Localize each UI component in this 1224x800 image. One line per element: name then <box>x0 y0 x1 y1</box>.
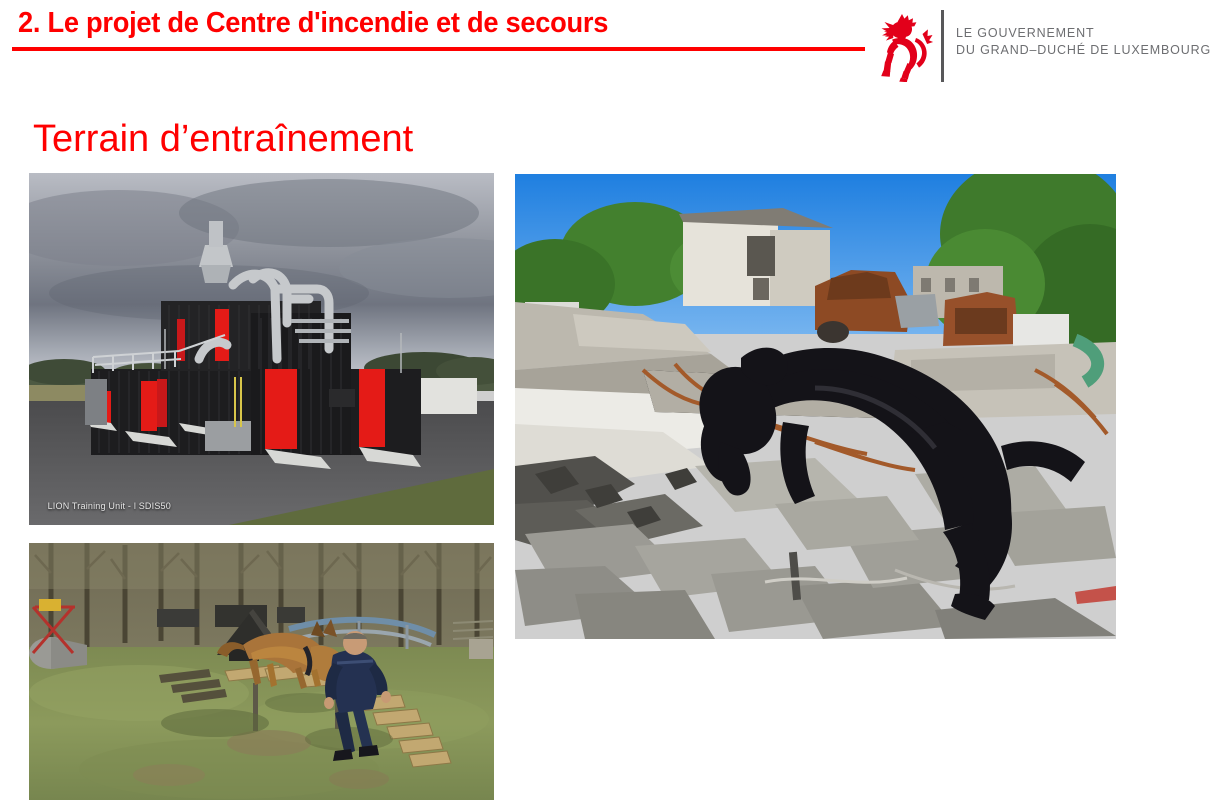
slide-header: 2. Le projet de Centre d'incendie et de … <box>0 0 1224 90</box>
training-unit-illustration <box>29 173 494 525</box>
government-logo-text: LE GOUVERNEMENT DU GRAND–DUCHÉ DE LUXEMB… <box>956 25 1211 59</box>
photo-caption: LION Training Unit - l SDIS50 <box>48 501 171 511</box>
logo-divider <box>941 10 944 82</box>
logo-line-2: DU GRAND–DUCHÉ DE LUXEMBOURG <box>956 42 1211 59</box>
section-subtitle: Terrain d’entraînement <box>33 116 413 162</box>
photo-rubble-dog <box>515 174 1116 639</box>
rubble-dog-illustration <box>515 174 1116 639</box>
agility-dog-illustration <box>29 543 494 800</box>
title-underline-rule <box>12 47 865 51</box>
government-logo: LE GOUVERNEMENT DU GRAND–DUCHÉ DE LUXEMB… <box>872 6 1220 84</box>
logo-line-1: LE GOUVERNEMENT <box>956 25 1211 42</box>
page-title: 2. Le projet de Centre d'incendie et de … <box>18 3 608 43</box>
photo-training-unit: LION Training Unit - l SDIS50 <box>29 173 494 525</box>
photo-agility-dog <box>29 543 494 800</box>
luxembourg-lion-icon <box>872 8 934 82</box>
